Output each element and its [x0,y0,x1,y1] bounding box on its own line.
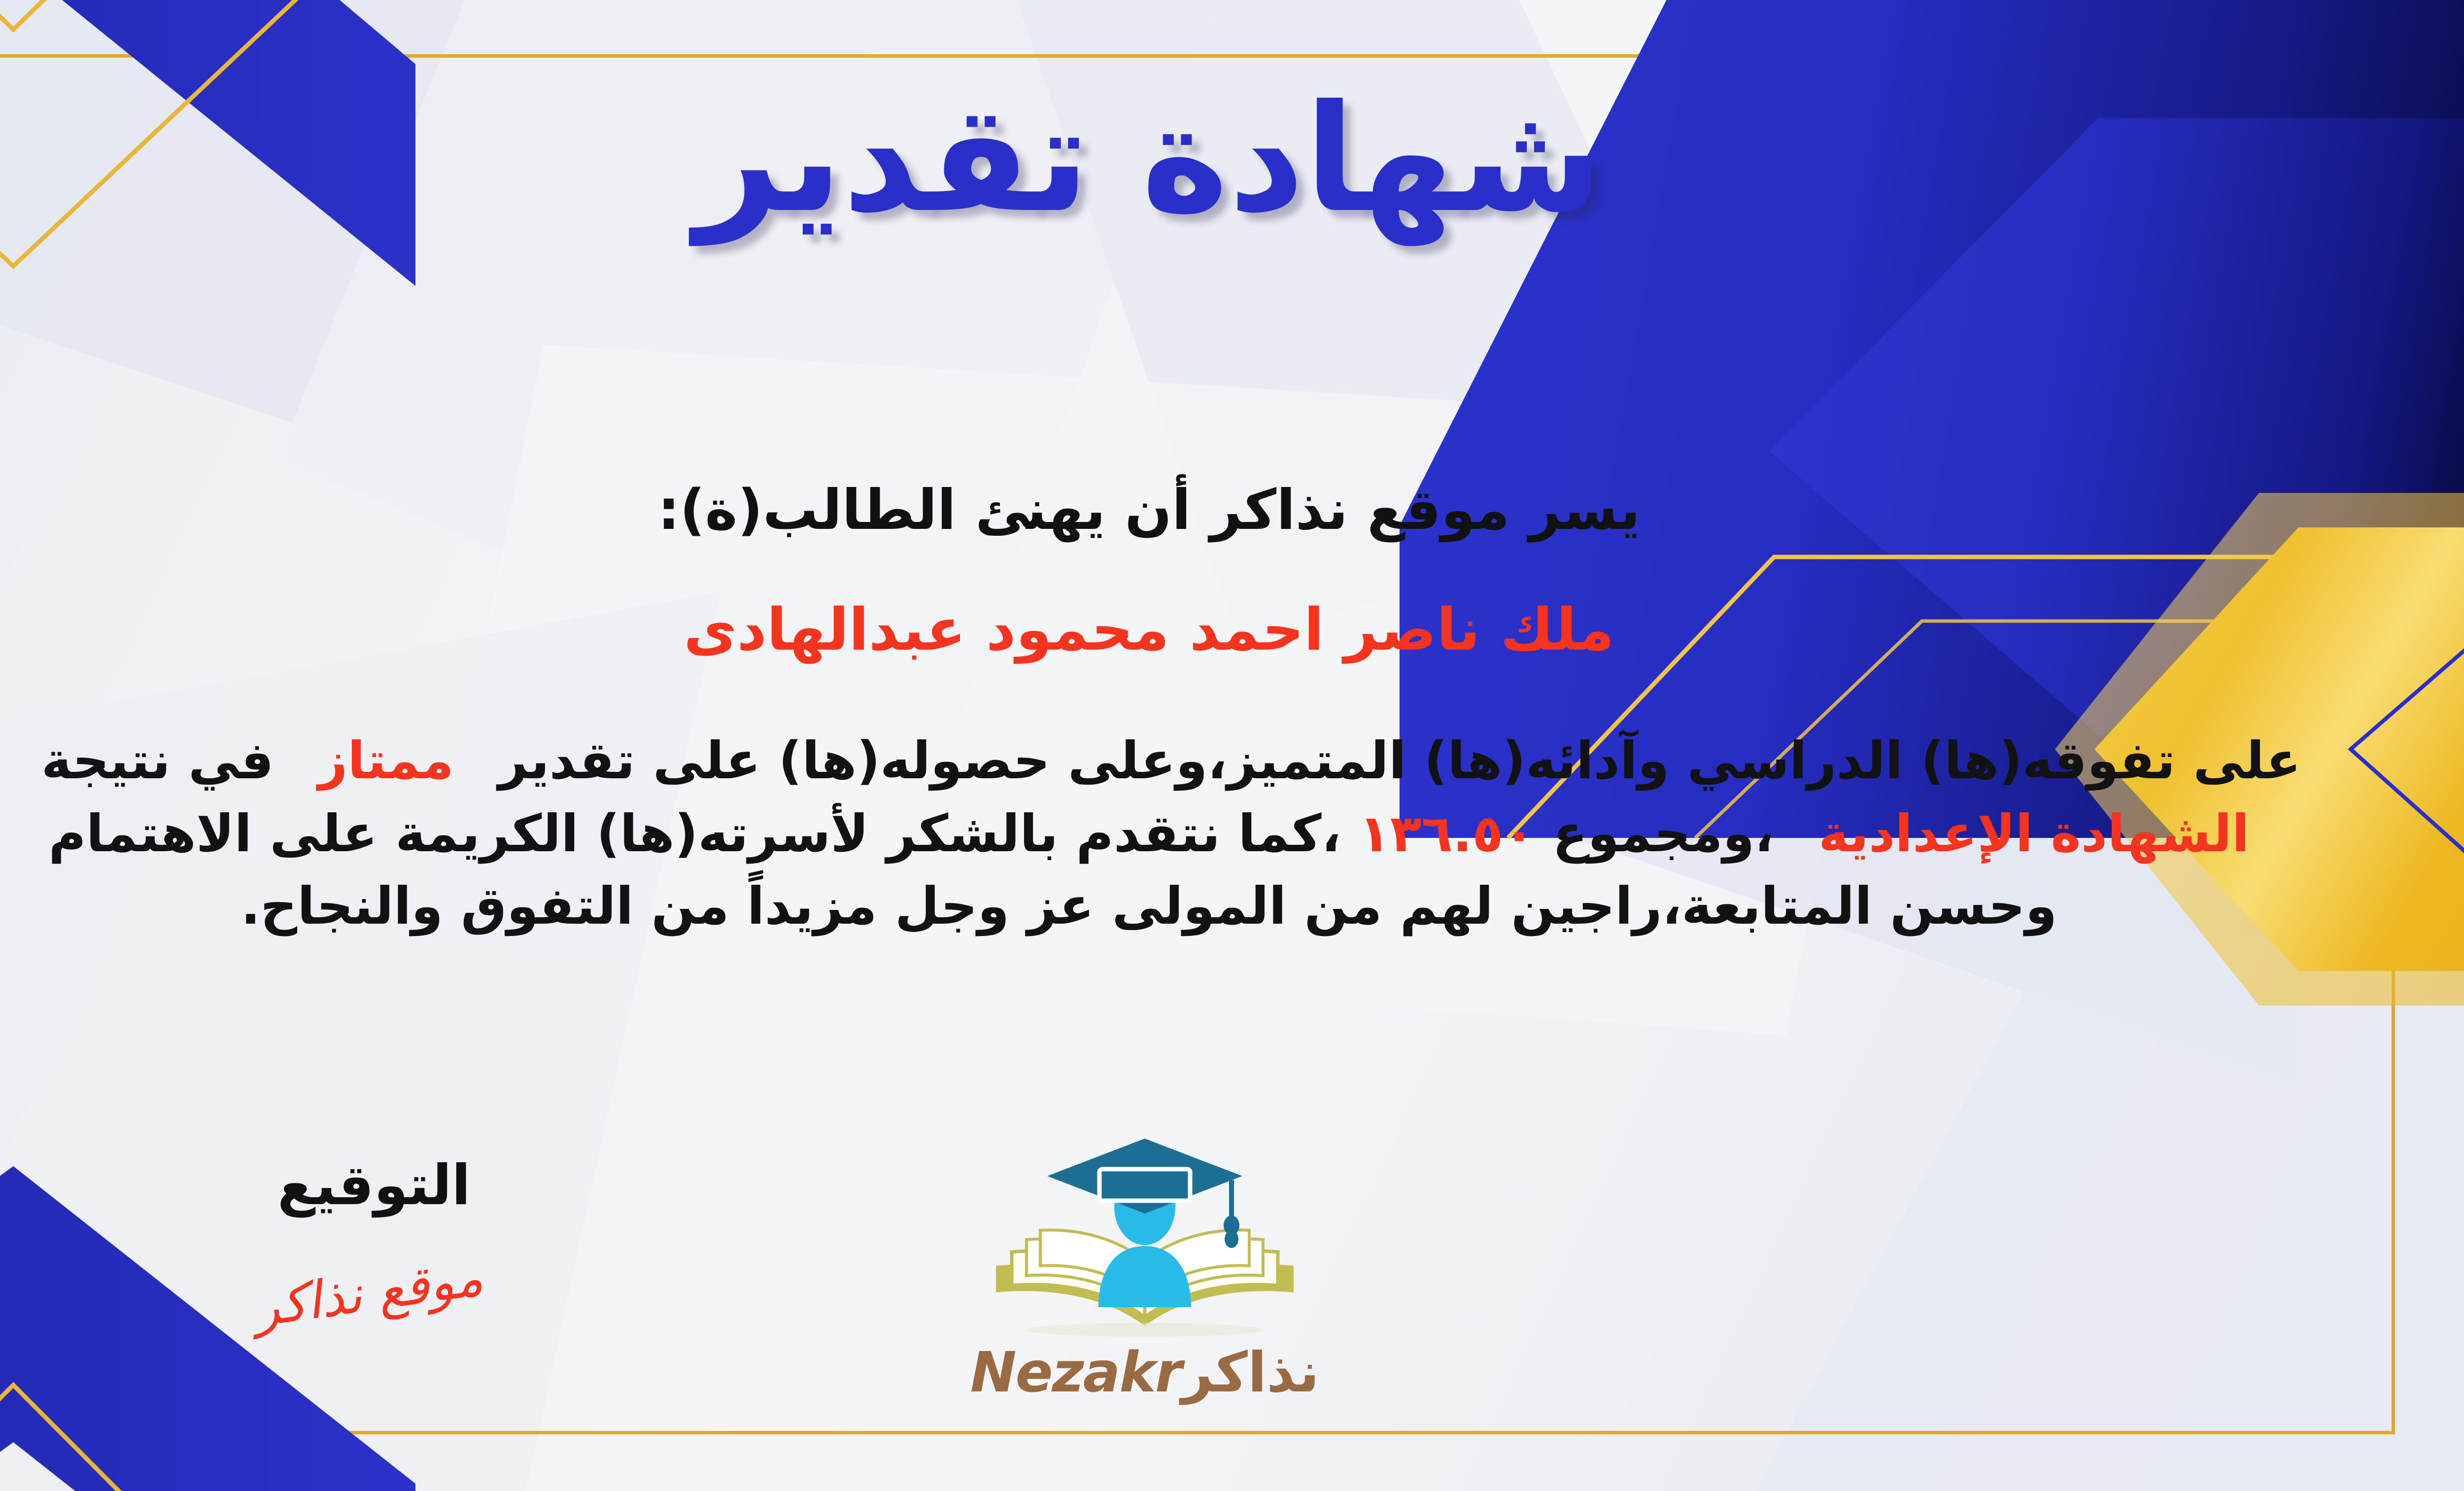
grade-value: ممتاز [318,730,454,791]
intro-line: يسر موقع نذاكر أن يهنئ الطالب(ة): [0,478,2395,542]
signature-label: التوقيع [277,1153,471,1217]
certificate-page: شهادة تقدير يسر موقع نذاكر أن يهنئ الطال… [0,0,2464,1491]
exam-name: الشهادة الإعدادية [1818,803,2250,864]
signature-mark: موقع نذاكر [250,1247,486,1339]
body-segment-1: على تفوقه(ها) الدراسي وآدائه(ها) المتميز… [498,730,2301,791]
nezakr-logo: نذاكرNezakr [958,1134,1332,1429]
logo-arabic: نذاكر [1181,1341,1319,1405]
body-segment-2: في نتيجة [41,730,274,791]
certificate-content: شهادة تقدير يسر موقع نذاكر أن يهنئ الطال… [0,54,2395,1434]
body-paragraph: على تفوقه(ها) الدراسي وآدائه(ها) المتميز… [0,725,2395,943]
total-score: ١٣٦.٥٠ [1359,803,1535,864]
logo-graphic [958,1134,1332,1346]
body-segment-3: ،ومجموع [1552,803,1774,864]
student-name: ملك ناصر احمد محمود عبدالهادى [0,595,2395,663]
logo-latin: Nezakr [970,1341,1181,1405]
certificate-title: شهادة تقدير [0,81,2395,237]
logo-wordmark: نذاكرNezakr [958,1341,1332,1405]
